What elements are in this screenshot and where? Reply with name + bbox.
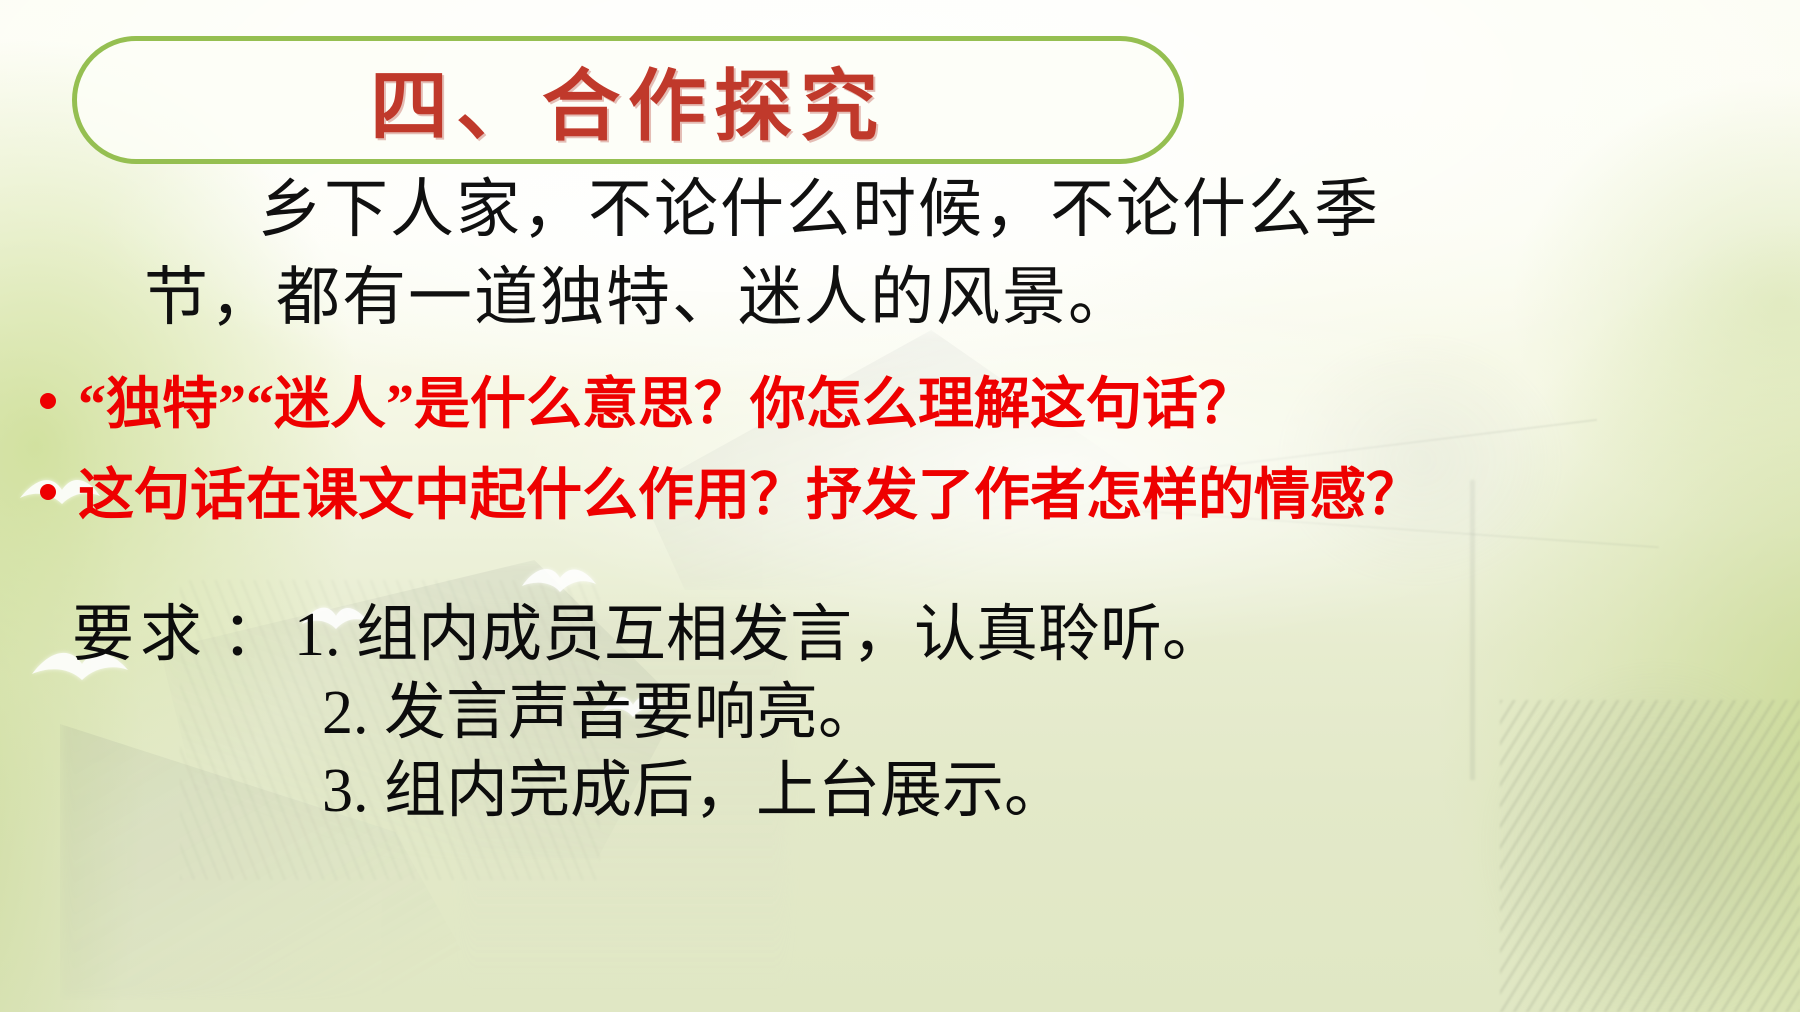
question-text: “独特”“迷人”是什么意思？你怎么理解这句话？ bbox=[78, 360, 1254, 451]
requirements-colon: ： bbox=[222, 596, 284, 674]
requirements-first-row: 要求 ： 1. 组内成员互相发言，认真聆听。 bbox=[72, 596, 1572, 674]
question-text: 这句话在课文中起什么作用？抒发了作者怎样的情感？ bbox=[78, 451, 1422, 542]
requirement-item-1: 1. 组内成员互相发言，认真聆听。 bbox=[294, 596, 1224, 674]
requirements-block: 要求 ： 1. 组内成员互相发言，认真聆听。 2. 发言声音要响亮。 3. 组内… bbox=[72, 596, 1572, 830]
bullet-dot-icon bbox=[40, 484, 56, 500]
page-title: 四、合作探究 bbox=[72, 36, 1184, 164]
quote-line-1: 乡下人家，不论什么时候，不论什么季 bbox=[128, 166, 1688, 254]
requirements-label: 要求 bbox=[72, 596, 208, 674]
quote-line-2: 节，都有一道独特、迷人的风景。 bbox=[144, 254, 1688, 342]
question-item[interactable]: 这句话在课文中起什么作用？抒发了作者怎样的情感？ bbox=[40, 451, 1780, 542]
bullet-dot-icon bbox=[40, 393, 56, 409]
quote-paragraph: 乡下人家，不论什么时候，不论什么季 节，都有一道独特、迷人的风景。 bbox=[128, 166, 1688, 343]
requirement-item-3: 3. 组内完成后，上台展示。 bbox=[322, 752, 1572, 830]
question-list: “独特”“迷人”是什么意思？你怎么理解这句话？ 这句话在课文中起什么作用？抒发了… bbox=[40, 360, 1780, 541]
question-item[interactable]: “独特”“迷人”是什么意思？你怎么理解这句话？ bbox=[40, 360, 1780, 451]
requirement-item-2: 2. 发言声音要响亮。 bbox=[322, 674, 1572, 752]
slide-canvas: 四、合作探究 乡下人家，不论什么时候，不论什么季 节，都有一道独特、迷人的风景。… bbox=[0, 0, 1800, 1012]
